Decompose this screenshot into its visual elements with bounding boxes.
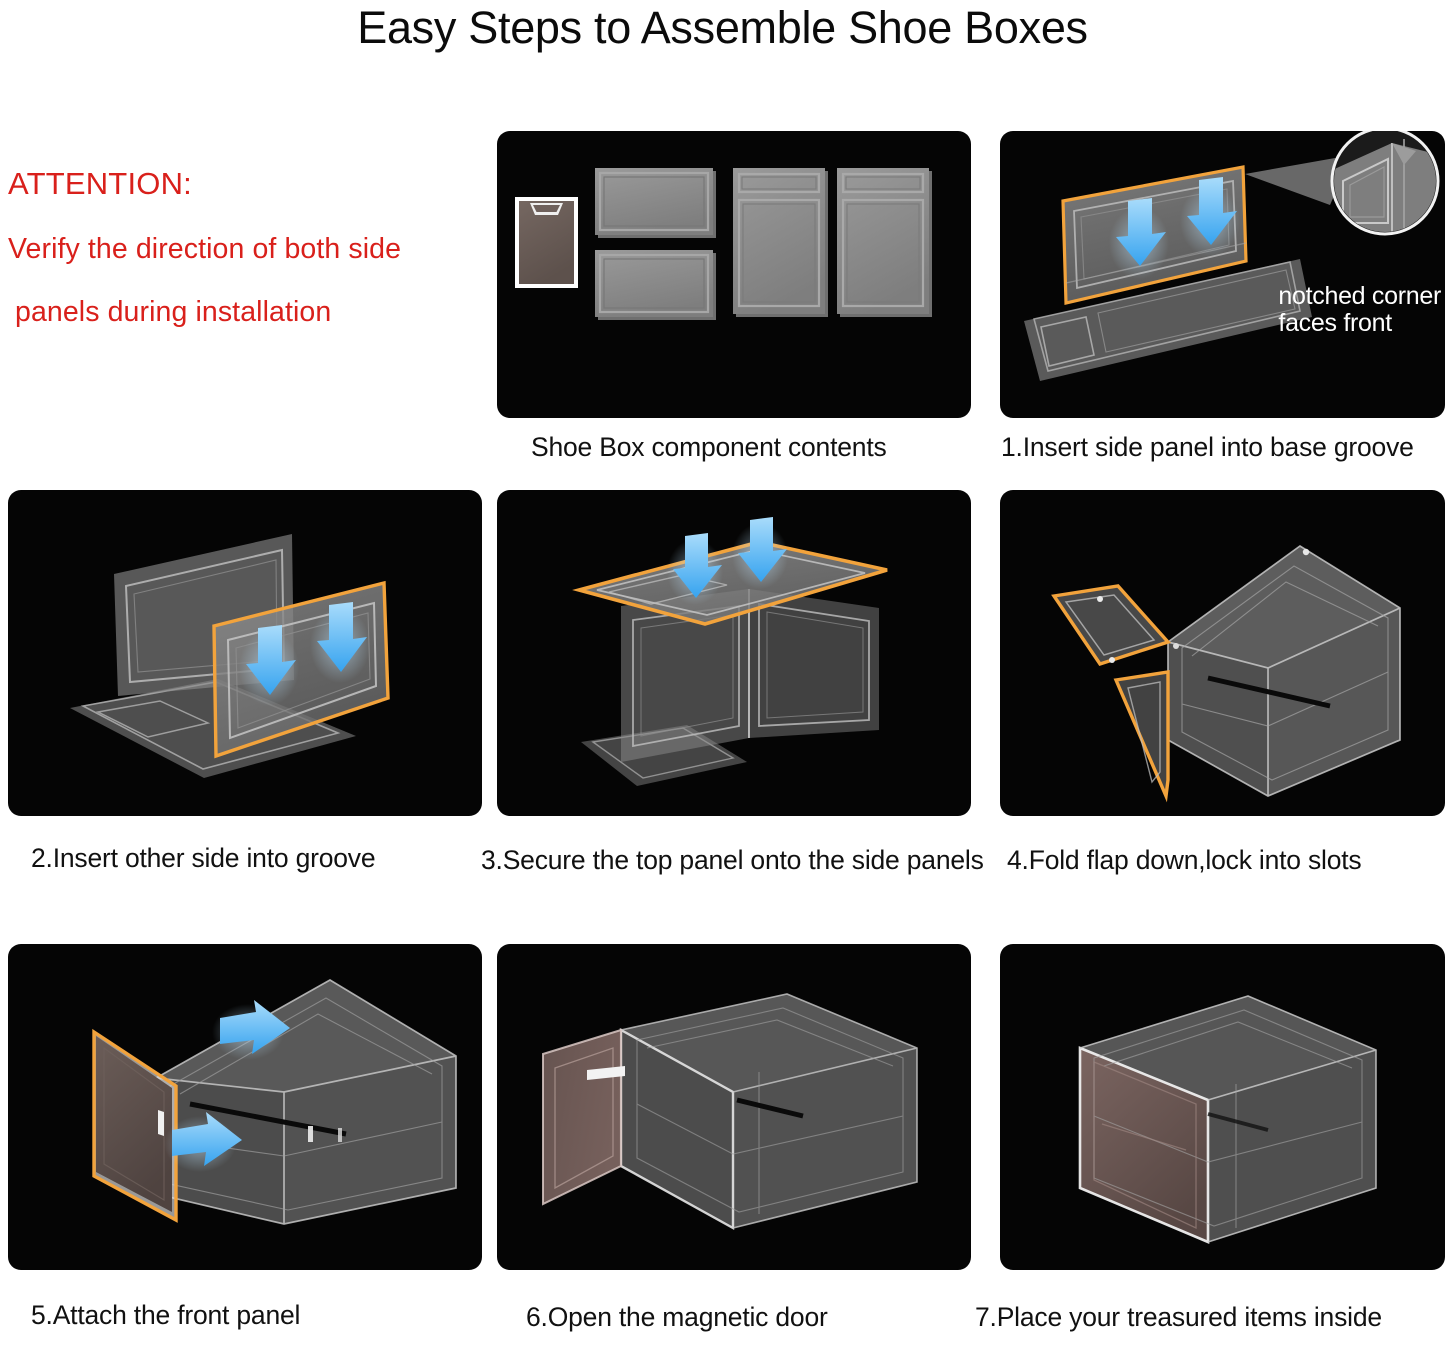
attention-line-1: Verify the direction of both side <box>8 235 494 264</box>
front-door-panel-highlighted <box>94 1032 176 1220</box>
step-5-illustration <box>8 944 482 1270</box>
panel-step-6 <box>497 944 971 1270</box>
secure-arrow-left <box>667 533 723 605</box>
caption-step-4: 4.Fold flap down,lock into slots <box>1007 845 1361 876</box>
panel-component-contents <box>497 131 971 418</box>
page-title: Easy Steps to Assemble Shoe Boxes <box>0 2 1445 54</box>
panel-step-7 <box>1000 944 1445 1270</box>
caption-step-6: 6.Open the magnetic door <box>526 1302 828 1333</box>
component-contents-illustration <box>497 131 971 418</box>
attention-line-2: panels during installation <box>8 298 494 327</box>
step-7-illustration <box>1000 944 1445 1270</box>
instruction-sheet: Easy Steps to Assemble Shoe Boxes ATTENT… <box>0 0 1445 1347</box>
caption-contents: Shoe Box component contents <box>531 432 887 463</box>
assembled-box <box>156 980 456 1224</box>
caption-step-3: 3.Secure the top panel onto the side pan… <box>481 845 984 876</box>
component-side-panel-left <box>733 168 828 317</box>
side-walls <box>621 589 879 762</box>
caption-step-1: 1.Insert side panel into base groove <box>1001 432 1414 463</box>
panel-step-5 <box>8 944 482 1270</box>
panel-step-2 <box>8 490 482 816</box>
attention-block: ATTENTION: Verify the direction of both … <box>8 166 494 360</box>
attention-heading: ATTENTION: <box>8 166 494 202</box>
caption-step-5: 5.Attach the front panel <box>31 1300 300 1331</box>
panel-step-4 <box>1000 490 1445 816</box>
magnetic-door-open <box>543 1030 625 1204</box>
assembled-box-open <box>621 994 917 1228</box>
panel-step-1: notched corner faces front <box>1000 131 1445 418</box>
notched-corner-magnifier <box>1330 131 1440 235</box>
step-3-illustration <box>497 490 971 816</box>
component-base-panel <box>595 250 716 320</box>
caption-step-7: 7.Place your treasured items inside <box>975 1302 1382 1333</box>
callout-line-2: faces front <box>1278 310 1441 337</box>
step-1-illustration <box>1000 131 1445 418</box>
notched-corner-callout: notched corner faces front <box>1278 283 1441 336</box>
component-top-panel <box>595 168 716 238</box>
panel-step-3 <box>497 490 971 816</box>
step-2-illustration <box>8 490 482 816</box>
finished-box <box>1080 996 1376 1242</box>
component-front-door-panel <box>515 197 578 288</box>
secure-arrow-right <box>732 517 788 589</box>
caption-step-2: 2.Insert other side into groove <box>31 843 375 874</box>
step-4-illustration <box>1000 490 1445 816</box>
assembled-box <box>1168 546 1400 796</box>
component-side-panel-right <box>837 168 932 317</box>
step-6-illustration <box>497 944 971 1270</box>
flap-bottom-highlighted <box>1116 672 1168 796</box>
callout-line-1: notched corner <box>1278 283 1441 310</box>
flap-top-highlighted <box>1054 586 1168 664</box>
